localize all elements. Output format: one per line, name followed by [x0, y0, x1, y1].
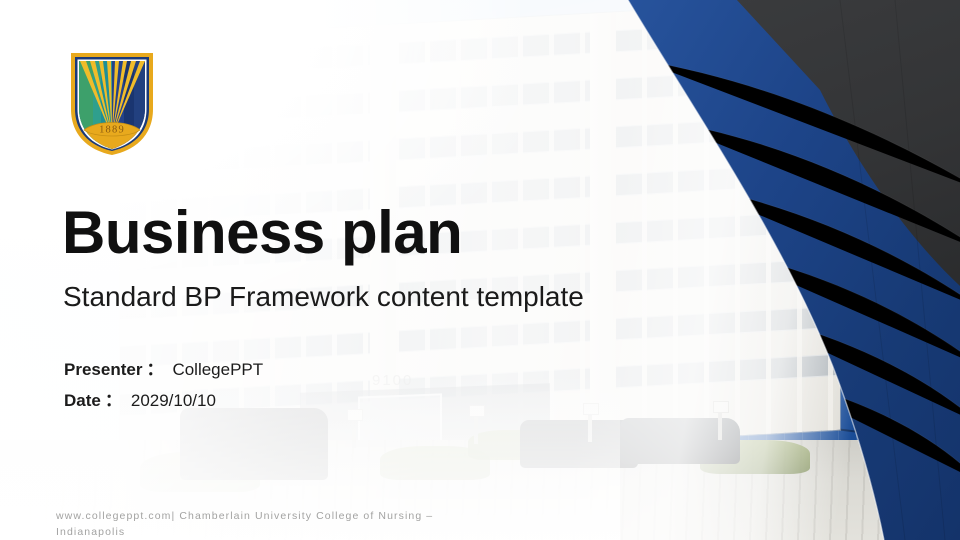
date-colon: ：	[105, 386, 122, 411]
date-value: 2029/10/10	[131, 391, 216, 411]
university-shield-logo: 1889	[68, 50, 156, 155]
founding-year-text: 1889	[99, 125, 125, 136]
parked-suv	[180, 408, 328, 480]
slide-subtitle: Standard BP Framework content template	[63, 280, 584, 314]
date-row: Date ： 2029/10/10	[64, 386, 263, 411]
presenter-row: Presenter ： CollegePPT	[64, 355, 263, 380]
title-slide: 9100	[0, 0, 960, 540]
presenter-colon: ：	[146, 355, 163, 380]
building-address-sign: 9100	[372, 372, 413, 389]
date-label: Date	[64, 391, 101, 411]
parked-car-2	[620, 418, 740, 464]
presenter-meta-block: Presenter ： CollegePPT Date ： 2029/10/10	[64, 355, 263, 417]
footer-attribution: www.collegeppt.com| Chamberlain Universi…	[56, 508, 486, 540]
presenter-label: Presenter	[64, 360, 142, 380]
presenter-value: CollegePPT	[172, 360, 263, 380]
slide-title: Business plan	[62, 203, 462, 263]
